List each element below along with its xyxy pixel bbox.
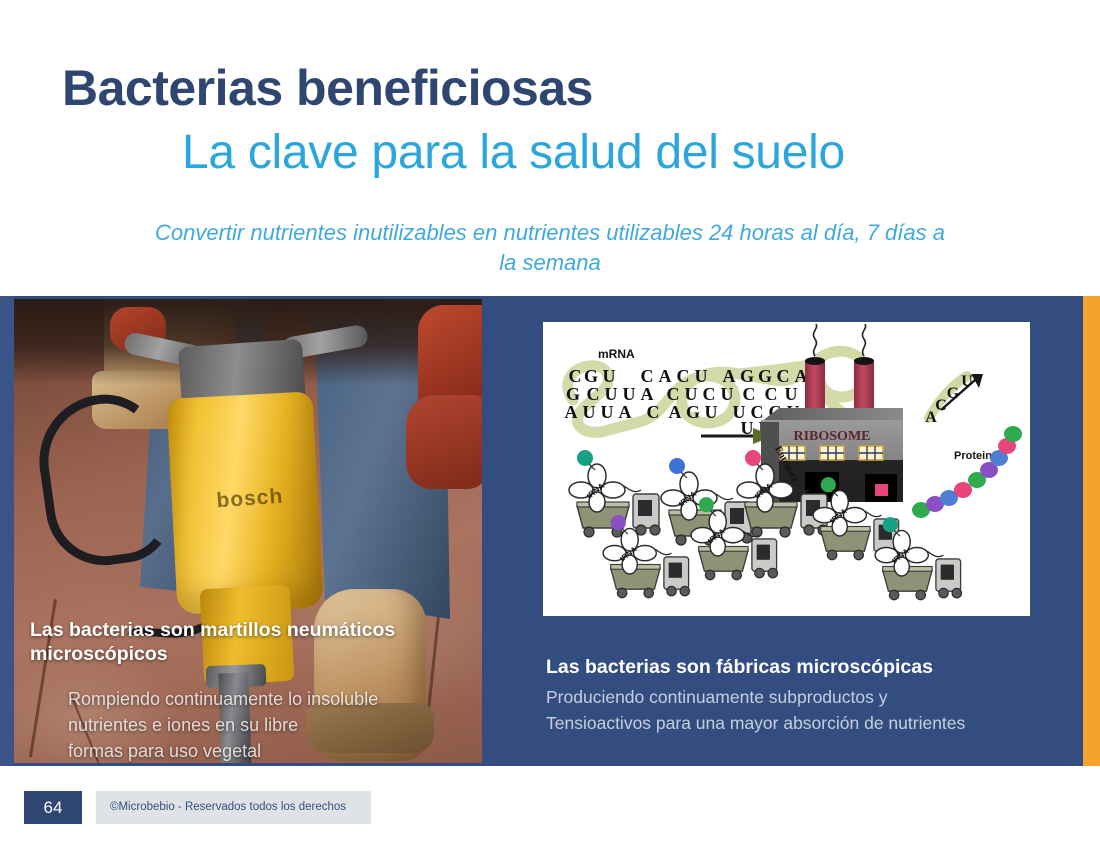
worker-glove-right-lower [406, 395, 482, 489]
nucleotide-letter: A [669, 402, 682, 422]
nucleotide-letter: U [603, 366, 616, 386]
page-subtitle: La clave para la salud del suelo [182, 128, 845, 178]
output-base-letter: U [961, 373, 973, 390]
nucleotide-letter: U [721, 384, 734, 404]
copyright-notice: ©Microbebio - Reservados todos los derec… [96, 791, 371, 824]
nucleotide-letter: C [677, 366, 690, 386]
nucleotide-letter: C [641, 366, 654, 386]
output-base-letter: C [935, 397, 947, 414]
right-caption-heading: Las bacterias son fábricas microscópicas [546, 655, 1066, 679]
nucleotide-letter: G [686, 402, 700, 422]
nucleotide-letter: C [777, 366, 790, 386]
right-caption-line: Tensioactivos para una mayor absorción d… [546, 710, 1076, 736]
nucleotide-letter: A [619, 402, 632, 422]
nucleotide-letter: U [695, 366, 708, 386]
ribosome-label: RIBOSOME [793, 429, 870, 444]
nucleotide-letter: G [566, 384, 580, 404]
nucleotide-letter: U [623, 384, 636, 404]
nucleotide-letter: G [758, 366, 772, 386]
nucleotide-letter: U [785, 384, 798, 404]
protein-bead [1004, 426, 1022, 442]
left-caption-line: nutrientes e iones en su libre [68, 712, 478, 738]
left-accent-strip [0, 296, 14, 766]
nucleotide-letter: U [705, 402, 718, 422]
page-title: Bacterias beneficiosas [62, 62, 593, 115]
protein-label: Protein [954, 450, 992, 462]
nucleotide-letter: A [641, 384, 654, 404]
nucleotide-letter: C [743, 384, 756, 404]
nucleotide-letter: U [583, 402, 596, 422]
ribosome-diagram: mRNA CGUCACUAGGCAGCUUACUCUCCUAUUACAGUUCC… [543, 322, 1030, 616]
nucleotide-letter: C [569, 366, 582, 386]
nucleotide-letter: C [647, 402, 660, 422]
nucleotide-letter: C [587, 384, 600, 404]
left-caption-heading: Las bacterias son martillos neumáticos m… [30, 618, 470, 667]
output-base-letter: G [947, 385, 960, 402]
mrna-label: mRNA [598, 347, 635, 361]
left-caption-body: Rompiendo continuamente lo insoluble nut… [68, 686, 478, 764]
right-caption-line: Produciendo continuamente subproductos y [546, 684, 1076, 710]
nucleotide-letter: G [584, 366, 598, 386]
right-accent-strip [1083, 296, 1100, 766]
nucleotide-letter: A [659, 366, 672, 386]
nucleotide-letter: C [703, 384, 716, 404]
nucleotide-letter: U [601, 402, 614, 422]
nucleotide-letter: C [667, 384, 680, 404]
page-tagline: Convertir nutrientes inutilizables en nu… [145, 218, 955, 277]
left-caption-line: Rompiendo continuamente lo insoluble [68, 686, 478, 712]
nucleotide-letter: U [605, 384, 618, 404]
nucleotide-letter: A [723, 366, 736, 386]
nucleotide-letter: C [765, 384, 778, 404]
page-number-badge: 64 [24, 791, 82, 824]
nucleotide-letter: G [740, 366, 754, 386]
slide-canvas: Bacterias beneficiosas La clave para la … [0, 0, 1100, 850]
left-caption-line: formas para uso vegetal [68, 738, 478, 764]
nucleotide-letter: A [565, 402, 578, 422]
right-caption-body: Produciendo continuamente subproductos y… [546, 684, 1076, 737]
factory-windows [781, 446, 883, 460]
protein-bead [954, 482, 972, 498]
nucleotide-letter: U [685, 384, 698, 404]
